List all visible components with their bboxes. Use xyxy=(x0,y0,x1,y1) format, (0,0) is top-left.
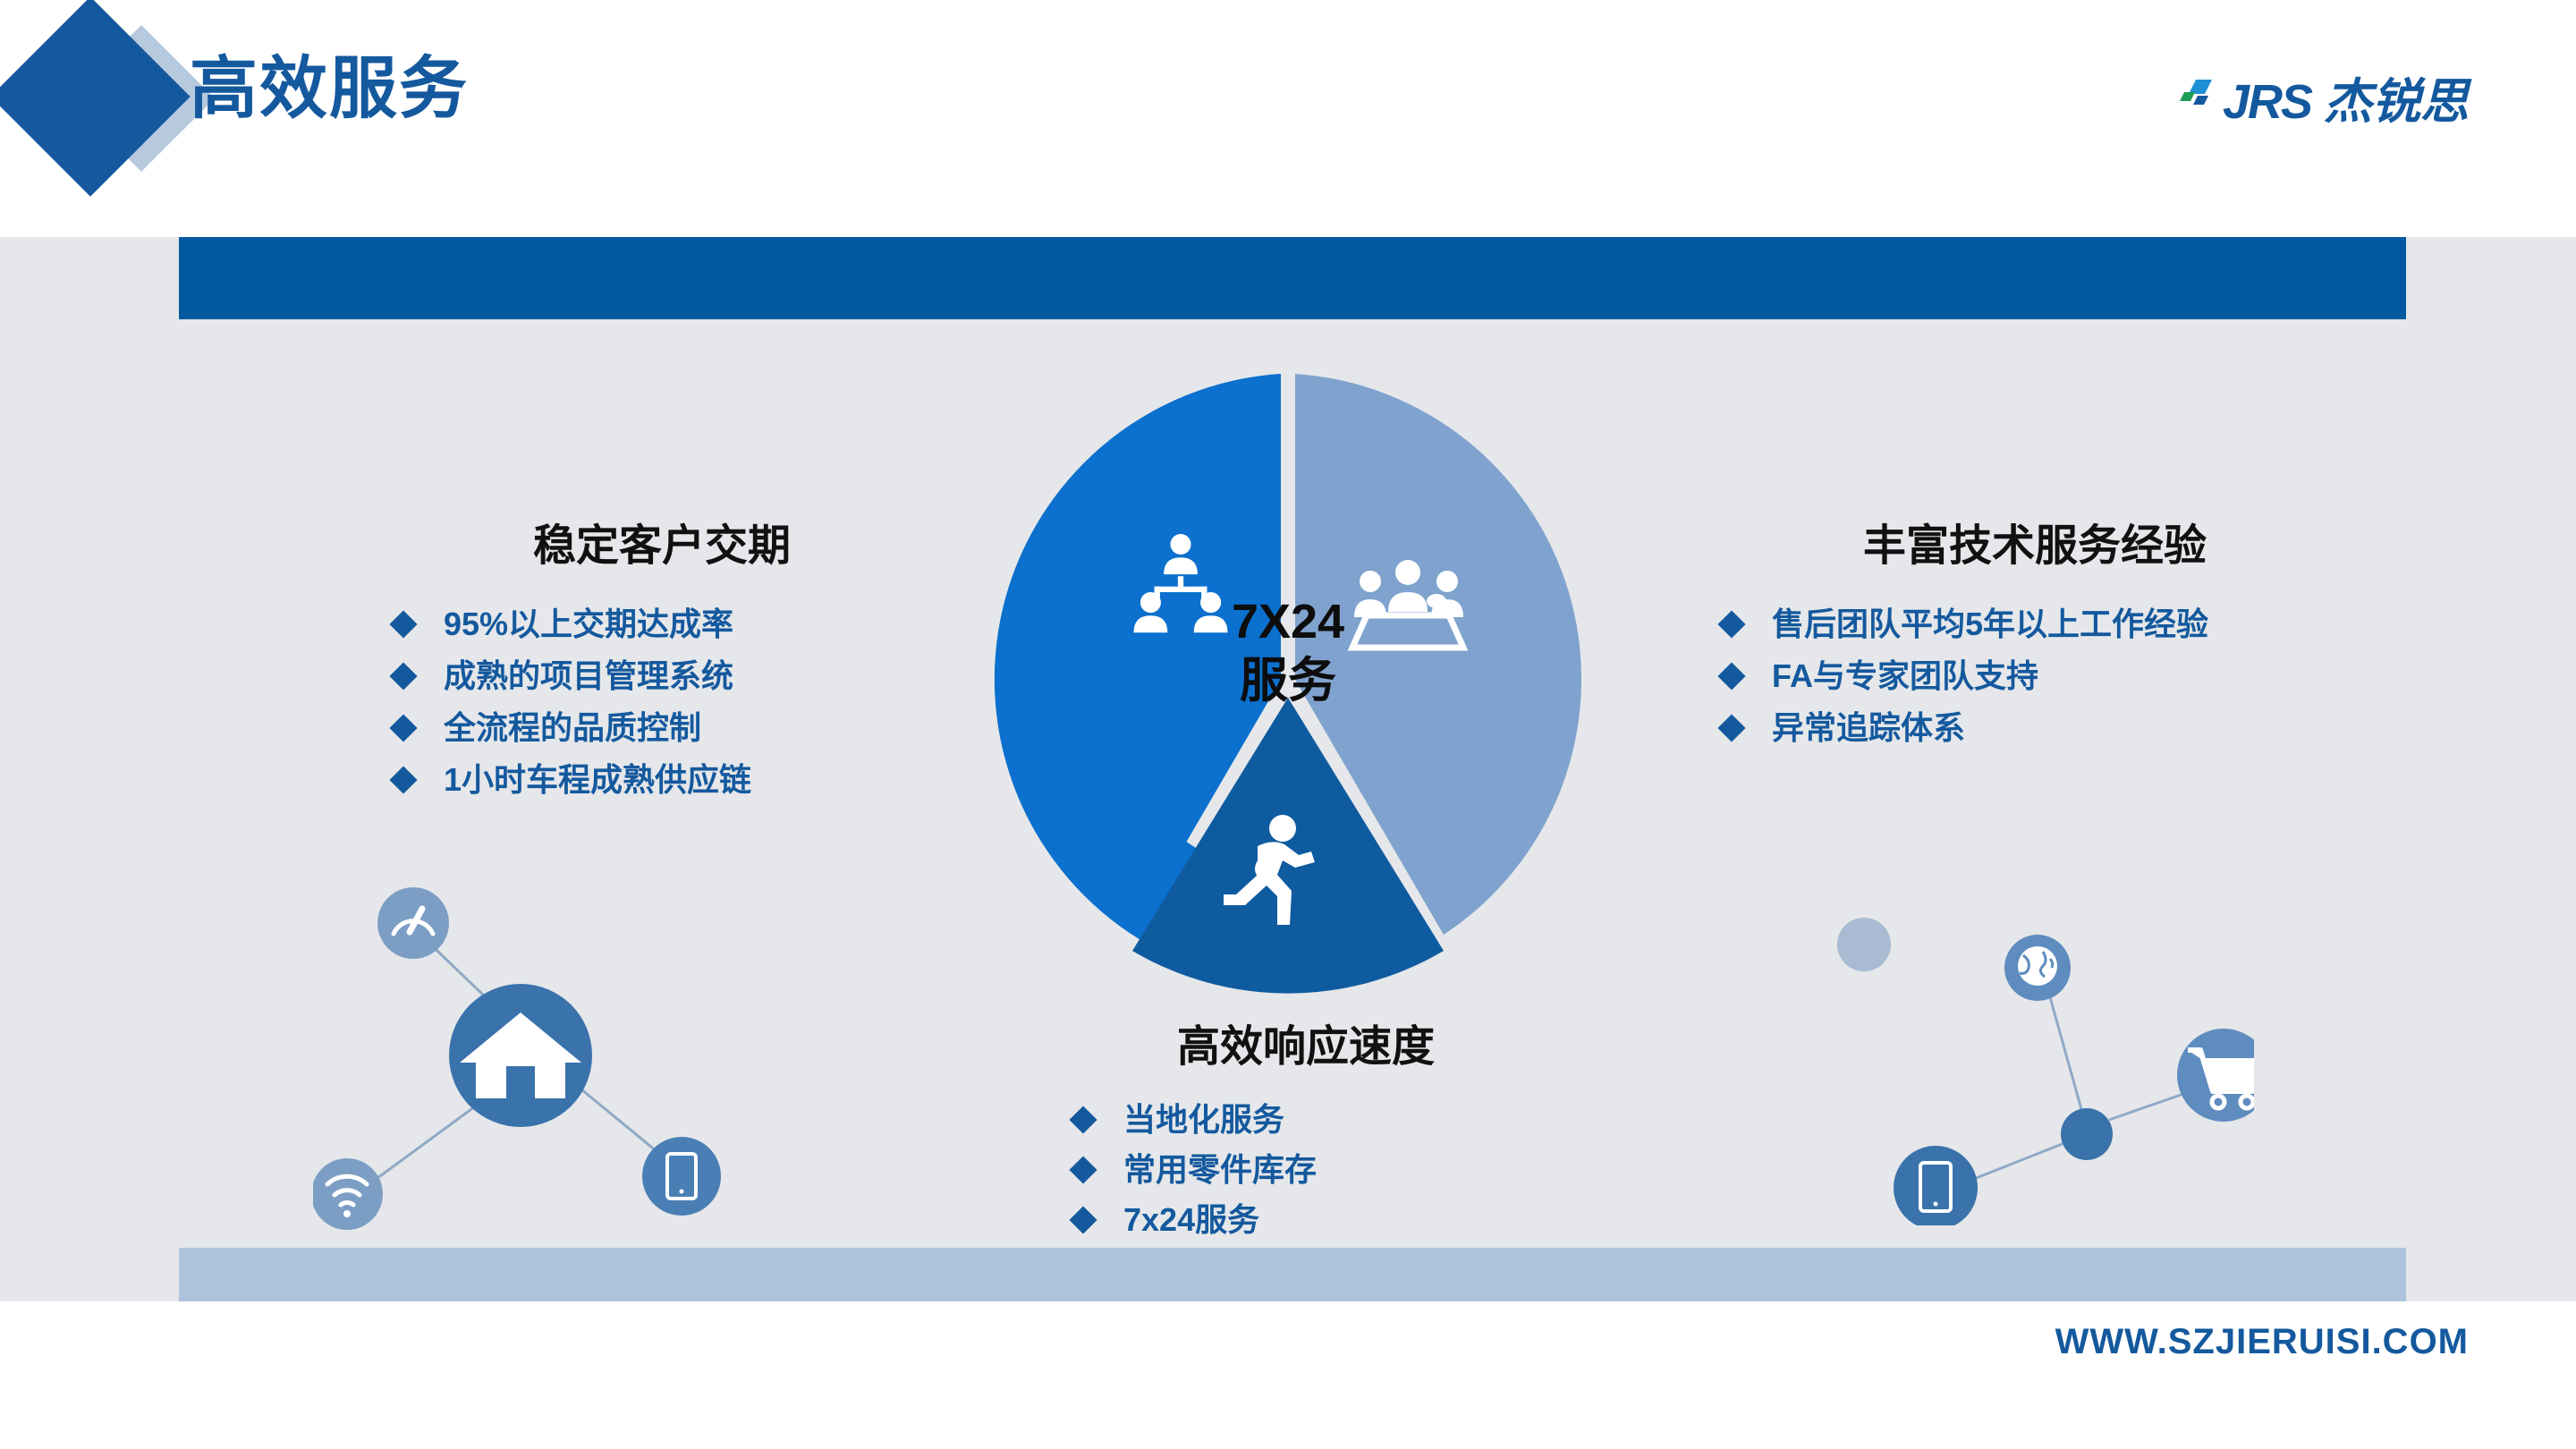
list-item: 当地化服务 xyxy=(1073,1100,1565,1140)
list-item: 全流程的品质控制 xyxy=(394,708,948,748)
list-item: 7x24服务 xyxy=(1073,1200,1565,1240)
list-item: 常用零件库存 xyxy=(1073,1150,1565,1190)
block-left-bullet-list: 95%以上交期达成率 成熟的项目管理系统 全流程的品质控制 1小时车程成熟供应链 xyxy=(376,605,948,800)
block-left-heading: 稳定客户交期 xyxy=(376,510,948,572)
diamond-bullet-icon xyxy=(1069,1106,1097,1133)
page-header: 高效服务 JRS 杰锐思 xyxy=(0,0,2576,237)
diamond-bullet-icon xyxy=(1717,662,1745,690)
list-item: 售后团队平均5年以上工作经验 xyxy=(1722,605,2402,644)
decor-network-right xyxy=(1825,903,2254,1225)
block-right-heading: 丰富技术服务经验 xyxy=(1722,510,2402,572)
globe-icon xyxy=(2018,946,2057,986)
list-item: FA与专家团队支持 xyxy=(1722,657,2402,696)
block-stable-delivery: 稳定客户交期 95%以上交期达成率 成熟的项目管理系统 全流程的品质控制 1小时… xyxy=(376,510,948,812)
list-item: 95%以上交期达成率 xyxy=(394,605,948,644)
diamond-bullet-icon xyxy=(1069,1156,1097,1183)
header-diamond-dark-icon xyxy=(0,0,191,197)
tablet-node xyxy=(642,1137,721,1216)
block-bottom-bullet-list: 当地化服务 常用零件库存 7x24服务 xyxy=(1046,1100,1565,1240)
bullet-label: 全流程的品质控制 xyxy=(444,708,701,748)
jrs-pixel-mark-icon xyxy=(2173,78,2221,126)
diamond-bullet-icon xyxy=(389,662,417,690)
block-rich-experience: 丰富技术服务经验 售后团队平均5年以上工作经验 FA与专家团队支持 异常追踪体系 xyxy=(1722,510,2402,760)
plain-circle-decor xyxy=(1837,918,1891,971)
logo-chinese-text: 杰锐思 xyxy=(2324,76,2469,128)
block-bottom-heading: 高效响应速度 xyxy=(1046,1011,1565,1073)
service-pie-chart: 7X24 服务 xyxy=(966,358,1610,1002)
bottom-accent-bar xyxy=(179,1248,2406,1301)
plain-hub-node xyxy=(2061,1108,2113,1160)
bullet-label: 售后团队平均5年以上工作经验 xyxy=(1772,605,2208,644)
wifi-node xyxy=(313,1158,383,1230)
logo-latin-text: JRS xyxy=(2223,76,2311,128)
top-accent-bar xyxy=(179,237,2406,319)
page-footer: WWW.SZJIERUISI.COM xyxy=(0,1301,2576,1449)
diamond-bullet-icon xyxy=(1717,714,1745,741)
block-fast-response: 高效响应速度 当地化服务 常用零件库存 7x24服务 xyxy=(1046,1011,1565,1250)
bullet-label: 7x24服务 xyxy=(1123,1200,1259,1240)
list-item: 1小时车程成熟供应链 xyxy=(394,760,948,800)
diamond-bullet-icon xyxy=(389,766,417,793)
list-item: 成熟的项目管理系统 xyxy=(394,657,948,696)
decor-network-left xyxy=(313,877,724,1252)
bullet-label: 1小时车程成熟供应链 xyxy=(444,760,751,800)
diamond-bullet-icon xyxy=(389,610,417,638)
bullet-label: 常用零件库存 xyxy=(1123,1150,1317,1190)
page-title: 高效服务 xyxy=(190,36,469,143)
diamond-bullet-icon xyxy=(1717,610,1745,638)
block-right-bullet-list: 售后团队平均5年以上工作经验 FA与专家团队支持 异常追踪体系 xyxy=(1722,605,2402,748)
list-item: 异常追踪体系 xyxy=(1722,708,2402,748)
company-logo: JRS 杰锐思 xyxy=(2173,70,2469,134)
bullet-label: FA与专家团队支持 xyxy=(1772,657,2038,696)
bullet-label: 成熟的项目管理系统 xyxy=(444,657,733,696)
bullet-label: 当地化服务 xyxy=(1123,1100,1284,1140)
bullet-label: 异常追踪体系 xyxy=(1772,708,1965,748)
footer-website-url: WWW.SZJIERUISI.COM xyxy=(2055,1322,2469,1362)
tablet-node-right xyxy=(1894,1146,1978,1225)
diamond-bullet-icon xyxy=(389,714,417,741)
bullet-label: 95%以上交期达成率 xyxy=(444,605,733,644)
diamond-bullet-icon xyxy=(1069,1206,1097,1233)
